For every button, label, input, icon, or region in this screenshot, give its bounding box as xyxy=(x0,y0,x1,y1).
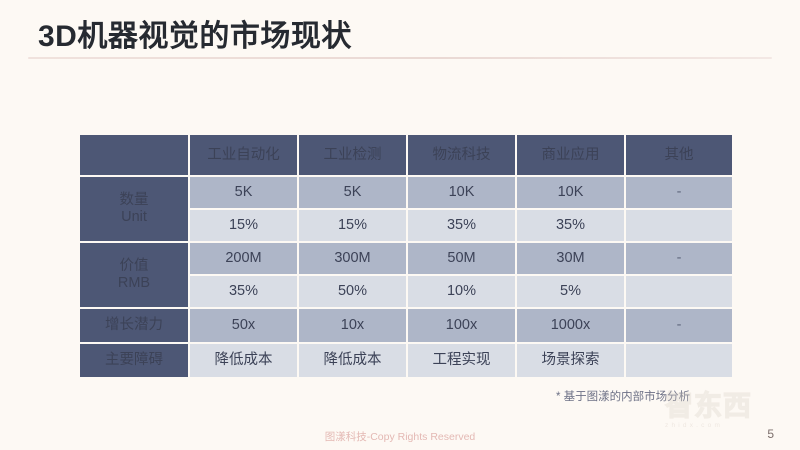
column-header-1: 工业自动化 xyxy=(190,135,297,175)
page-title: 3D机器视觉的市场现状 xyxy=(38,11,352,55)
table-cell: 10x xyxy=(299,309,406,342)
table-cell: 35% xyxy=(190,276,297,307)
slide-canvas: 3D机器视觉的市场现状 工业自动化工业检测物流科技商业应用其他数量Unit5K5… xyxy=(0,0,800,450)
table-row: 增长潜力50x10x100x1000x- xyxy=(80,309,732,342)
page-number: 5 xyxy=(767,427,774,441)
table-cell: 50x xyxy=(190,309,297,342)
table-cell xyxy=(626,276,732,307)
row-label-1: 数量Unit xyxy=(80,177,188,241)
table-cell: 降低成本 xyxy=(190,344,297,377)
table-cell: 100x xyxy=(408,309,515,342)
table-cell: 5% xyxy=(517,276,624,307)
table-cell: 50M xyxy=(408,243,515,274)
title-divider xyxy=(28,57,772,59)
table-cell: 场景探索 xyxy=(517,344,624,377)
table-cell: 降低成本 xyxy=(299,344,406,377)
table-cell: 10% xyxy=(408,276,515,307)
row-label-line1: 数量 xyxy=(80,192,188,209)
table-cell: 200M xyxy=(190,243,297,274)
table-cell: 300M xyxy=(299,243,406,274)
table-row: 主要障碍降低成本降低成本工程实现场景探索 xyxy=(80,344,732,377)
table-cell: 15% xyxy=(190,210,297,241)
table-cell xyxy=(626,210,732,241)
table-cell: 5K xyxy=(190,177,297,208)
table-cell: 15% xyxy=(299,210,406,241)
market-status-table: 工业自动化工业检测物流科技商业应用其他数量Unit5K5K10K10K-15%1… xyxy=(78,133,734,379)
column-header-2: 工业检测 xyxy=(299,135,406,175)
table-header-row: 工业自动化工业检测物流科技商业应用其他 xyxy=(80,135,732,175)
table-cell: 10K xyxy=(517,177,624,208)
table-cell: 5K xyxy=(299,177,406,208)
empty-value-dash: - xyxy=(677,317,682,333)
table-cell: 工程实现 xyxy=(408,344,515,377)
table-cell: 10K xyxy=(408,177,515,208)
row-label-line1: 增长潜力 xyxy=(80,317,188,334)
row-label-line2: RMB xyxy=(80,275,188,292)
table-cell: 50% xyxy=(299,276,406,307)
copyright-notice: 图漾科技-Copy Rights Reserved xyxy=(0,429,800,444)
table-row: 数量Unit5K5K10K10K- xyxy=(80,177,732,208)
row-label-4: 主要障碍 xyxy=(80,344,188,377)
column-header-4: 商业应用 xyxy=(517,135,624,175)
table-cell: - xyxy=(626,243,732,274)
table-cell: 1000x xyxy=(517,309,624,342)
table-cell: - xyxy=(626,309,732,342)
table-corner-cell xyxy=(80,135,188,175)
table-cell: 35% xyxy=(408,210,515,241)
table-footnote: * 基于图漾的内部市场分析 xyxy=(556,388,690,404)
row-label-2: 价值RMB xyxy=(80,243,188,307)
table-cell: - xyxy=(626,177,732,208)
table-cell: 30M xyxy=(517,243,624,274)
column-header-5: 其他 xyxy=(626,135,732,175)
empty-value-dash: - xyxy=(677,184,682,200)
row-label-line1: 主要障碍 xyxy=(80,352,188,369)
row-label-line1: 价值 xyxy=(80,258,188,275)
table-cell: 35% xyxy=(517,210,624,241)
empty-value-dash: - xyxy=(677,250,682,266)
row-label-3: 增长潜力 xyxy=(80,309,188,342)
column-header-3: 物流科技 xyxy=(408,135,515,175)
row-label-line2: Unit xyxy=(80,209,188,226)
table-row: 价值RMB200M300M50M30M- xyxy=(80,243,732,274)
table-cell xyxy=(626,344,732,377)
